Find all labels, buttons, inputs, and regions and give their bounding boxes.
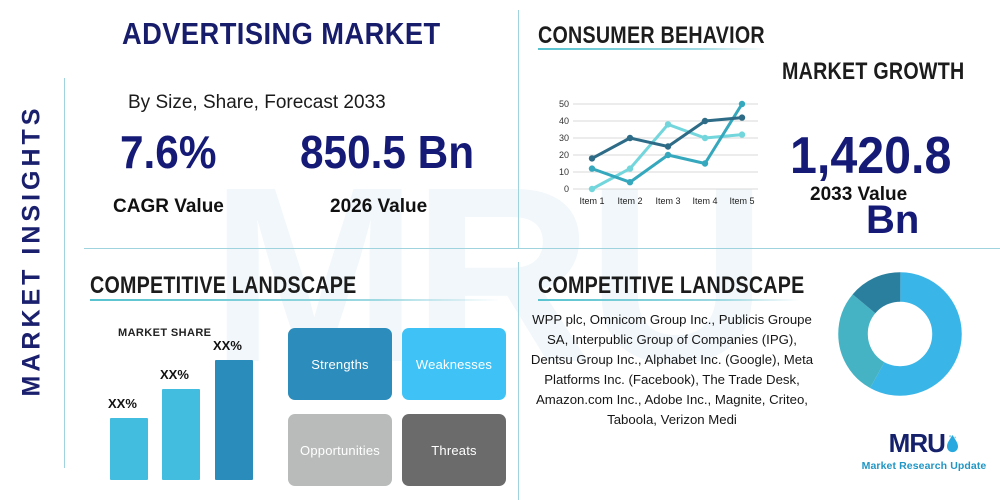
divider-horizontal-main	[84, 248, 1000, 249]
swot-weaknesses[interactable]: Weaknesses	[402, 328, 506, 400]
bar-2	[162, 389, 200, 480]
side-banner-label: MARKET INSIGHTS	[18, 104, 47, 396]
side-banner: MARKET INSIGHTS	[0, 0, 64, 500]
market-share-bar-chart: XX% XX% XX%	[100, 340, 275, 480]
logo-tagline: Market Research Update	[854, 460, 994, 472]
section-rule-competitive-landscape-right	[538, 299, 800, 301]
y-tick-0: 0	[564, 184, 569, 194]
market-share-donut-chart	[838, 272, 962, 396]
company-list: WPP plc, Omnicom Group Inc., Publicis Gr…	[528, 310, 816, 430]
kpi-2026-value: 850.5 Bn	[300, 125, 474, 179]
page-subtitle: By Size, Share, Forecast 2033	[128, 92, 386, 114]
market-growth-value: 1,420.8	[790, 126, 951, 186]
y-tick-20: 20	[559, 150, 569, 160]
donut-segment-3	[853, 287, 947, 381]
kpi-cagr-label: CAGR Value	[113, 196, 224, 218]
section-title-competitive-landscape-right: COMPETITIVE LANDSCAPE	[538, 272, 805, 300]
x-tick-item-1: Item 1	[579, 196, 604, 206]
brand-logo: MRU Market Research Update	[854, 430, 994, 472]
swot-opportunities[interactable]: Opportunities	[288, 414, 392, 486]
divider-bottom-vertical	[518, 262, 519, 500]
consumer-behavior-line-chart: 50 40 30 20 10 0 Item 1 Item 2 Item 3 It…	[545, 96, 760, 211]
section-title-competitive-landscape-left: COMPETITIVE LANDSCAPE	[90, 272, 357, 300]
logo-main-text: MRU	[889, 430, 945, 456]
y-tick-30: 30	[559, 133, 569, 143]
bar-1	[110, 418, 148, 480]
droplet-icon	[946, 434, 959, 456]
bar-1-label: XX%	[108, 396, 137, 411]
market-growth-unit: Bn	[866, 198, 919, 243]
x-tick-item-2: Item 2	[617, 196, 642, 206]
swot-strengths[interactable]: Strengths	[288, 328, 392, 400]
x-tick-item-4: Item 4	[692, 196, 717, 206]
bar-2-label: XX%	[160, 367, 189, 382]
y-tick-10: 10	[559, 167, 569, 177]
page-title: ADVERTISING MARKET	[122, 16, 441, 52]
divider-top-vertical	[518, 10, 519, 248]
infographic-root: MRU MARKET INSIGHTS ADVERTISING MARKET B…	[0, 0, 1000, 500]
bar-3	[215, 360, 253, 480]
bar-3-label: XX%	[213, 338, 242, 353]
divider-left-vertical	[64, 78, 65, 468]
swot-matrix: Strengths Weaknesses Opportunities Threa…	[288, 328, 506, 486]
swot-threats[interactable]: Threats	[402, 414, 506, 486]
section-rule-competitive-landscape-left	[90, 299, 500, 301]
kpi-cagr-value: 7.6%	[120, 125, 216, 179]
logo-wordmark: MRU	[854, 430, 994, 457]
kpi-2026-label: 2026 Value	[330, 196, 427, 218]
section-rule-consumer-behavior	[538, 48, 768, 50]
y-tick-50: 50	[559, 99, 569, 109]
y-tick-40: 40	[559, 116, 569, 126]
section-title-market-growth: MARKET GROWTH	[782, 58, 964, 86]
x-tick-item-5: Item 5	[729, 196, 754, 206]
section-title-consumer-behavior: CONSUMER BEHAVIOR	[538, 22, 765, 50]
market-share-label: MARKET SHARE	[118, 327, 211, 339]
line-series-2	[592, 104, 742, 182]
x-tick-item-3: Item 3	[655, 196, 680, 206]
